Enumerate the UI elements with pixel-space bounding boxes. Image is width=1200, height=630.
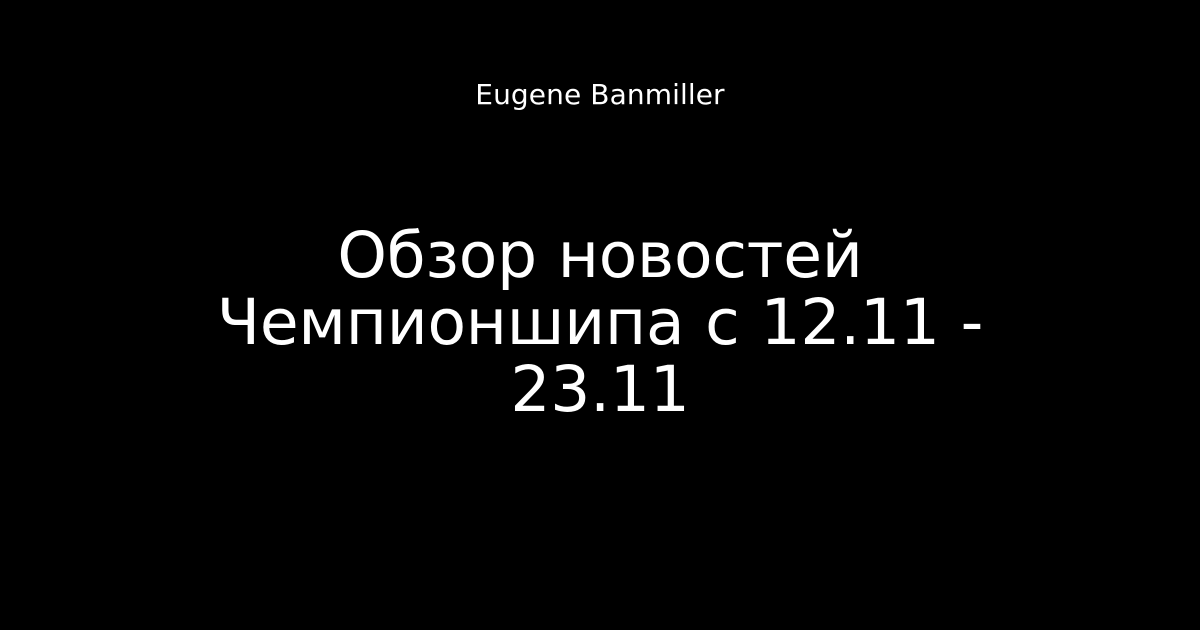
- social-share-card: Eugene Banmiller Обзор новостей Чемпионш…: [0, 0, 1200, 630]
- page-title: Обзор новостей Чемпионшипа с 12.11 - 23.…: [150, 222, 1050, 423]
- author-byline: Eugene Banmiller: [0, 78, 1200, 112]
- headline-container: Обзор новостей Чемпионшипа с 12.11 - 23.…: [0, 222, 1200, 423]
